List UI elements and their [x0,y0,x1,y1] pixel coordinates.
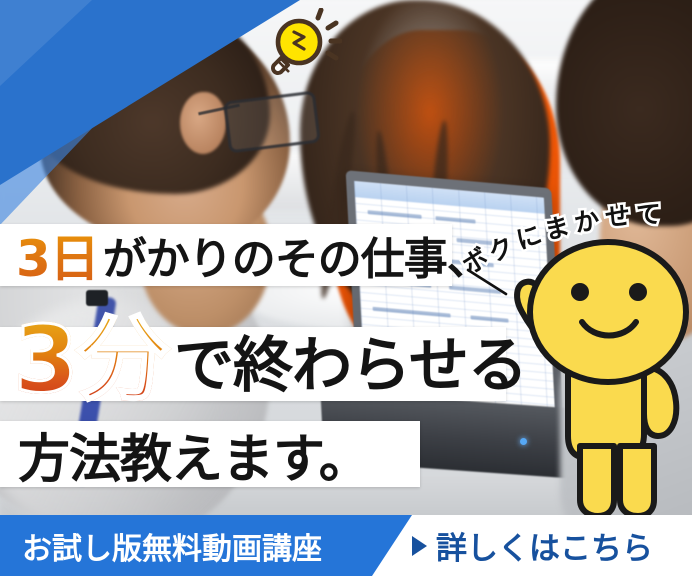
mascot-right-arm [644,368,676,436]
cta-link-label: 詳しくはこちら [436,523,653,568]
lightbulb-idea-icon [262,8,342,80]
headline-line-3-text: 方法教えます。 [18,417,370,492]
cta-bar[interactable]: お試し版無料動画講座 詳しくはこちら [0,515,692,576]
mascot-right-leg [620,446,654,516]
mascot-left-eye [571,283,589,301]
headline-line-2: 3分 で終わらせる [14,310,527,410]
headline-line-2-rest: で終わらせる [174,317,527,404]
headline-line-1: 3日 がかりのその仕事、 [16,224,490,286]
headline-line-3: 方法教えます。 [18,421,370,487]
photo-lanyard-clip [86,290,108,306]
headline-line-1-rest: がかりのその仕事、 [103,223,490,287]
play-triangle-icon [412,536,427,556]
headline-line-2-number: 3分 [14,319,174,402]
headline-line-1-number: 3日 [16,219,103,291]
mascot-right-eye [629,283,647,301]
cta-badge-label[interactable]: お試し版無料動画講座 [22,515,322,576]
mascot-character [498,238,692,518]
mascot-head [530,242,686,382]
promo-banner: 3日 がかりのその仕事、 3分 で終わらせる 方法教えます。 ボ ク に ま か… [0,0,692,576]
mascot-left-leg [580,446,614,516]
cta-details-link[interactable]: 詳しくはこちら [412,515,653,576]
